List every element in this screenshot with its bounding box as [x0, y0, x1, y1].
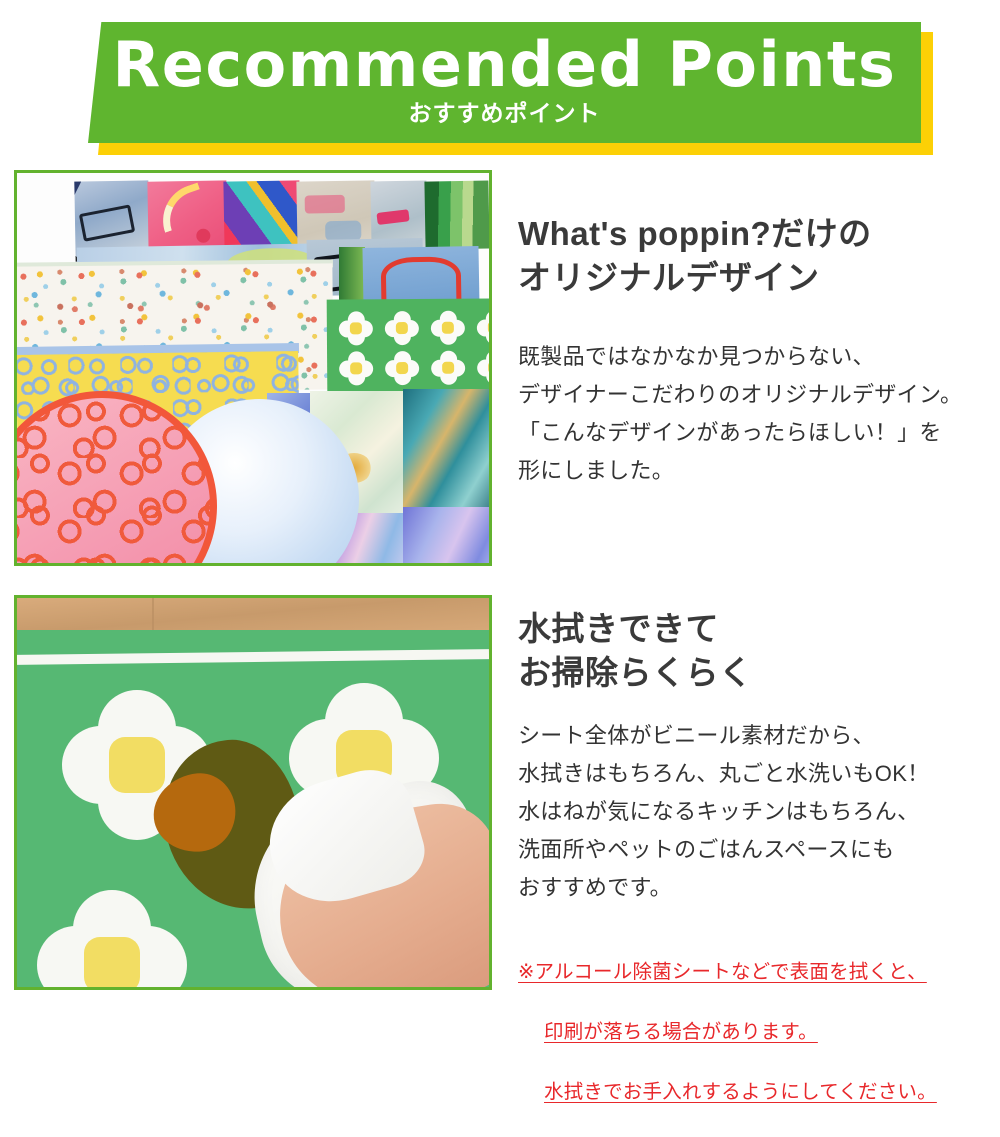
feature-section-design: What's poppin?だけの オリジナルデザイン 既製品ではなかなか見つか…: [0, 170, 1000, 570]
paper-swatch-marble-teal: [403, 389, 492, 511]
paper-swatch-graffiti-bright: [223, 180, 300, 253]
feature-heading-design: What's poppin?だけの オリジナルデザイン: [518, 170, 988, 300]
feature-heading-cleaning: 水拭きできて お掃除らくらく: [518, 595, 988, 695]
photo-original-designs: [14, 170, 492, 566]
feature-section-cleaning: 水拭きできて お掃除らくらく シート全体がビニール素材だから、 水拭きはもちろん…: [0, 595, 1000, 995]
page-root: Recommended Points おすすめポイント: [0, 0, 1000, 1000]
paper-swatch-green-flowers: [327, 298, 492, 393]
feature-body-design: 既製品ではなかなか見つからない、 デザイナーこだわりのオリジナルデザイン。 「こ…: [518, 300, 988, 490]
photo-wipe-clean: [14, 595, 492, 990]
feature-body-cleaning: シート全体がビニール素材だから、 水拭きはもちろん、丸ごと水洗いもOK！ 水はね…: [518, 695, 988, 907]
feature-text-cleaning: 水拭きできて お掃除らくらく シート全体がビニール素材だから、 水拭きはもちろん…: [518, 595, 988, 1137]
sheet-white-line: [17, 649, 489, 665]
caution-note: ※アルコール除菌シートなどで表面を拭くと、 印刷が落ちる場合があります。 水拭き…: [518, 907, 988, 1137]
paper-swatch-marble-blue: [403, 507, 492, 566]
page-title: Recommended Points: [88, 30, 921, 100]
paper-swatch-green-stripes: [424, 180, 489, 249]
header-banner: Recommended Points おすすめポイント: [0, 0, 1000, 175]
caution-note-line-3: 水拭きでお手入れするようにしてください。: [518, 1077, 988, 1107]
caution-note-line-2: 印刷が落ちる場合があります。: [518, 1017, 988, 1047]
paper-swatch-pink: [147, 180, 227, 253]
caution-note-line-1: ※アルコール除菌シートなどで表面を拭くと、: [518, 957, 988, 987]
paper-collage-illustration: [17, 173, 489, 563]
flower-motif: [37, 890, 187, 987]
page-subtitle: おすすめポイント: [88, 99, 921, 127]
feature-text-design: What's poppin?だけの オリジナルデザイン 既製品ではなかなか見つか…: [518, 170, 988, 490]
paper-swatch-green-pole: [339, 247, 365, 305]
green-flower-sheet-illustration: [17, 598, 489, 987]
wood-floor-strip: [17, 598, 489, 630]
